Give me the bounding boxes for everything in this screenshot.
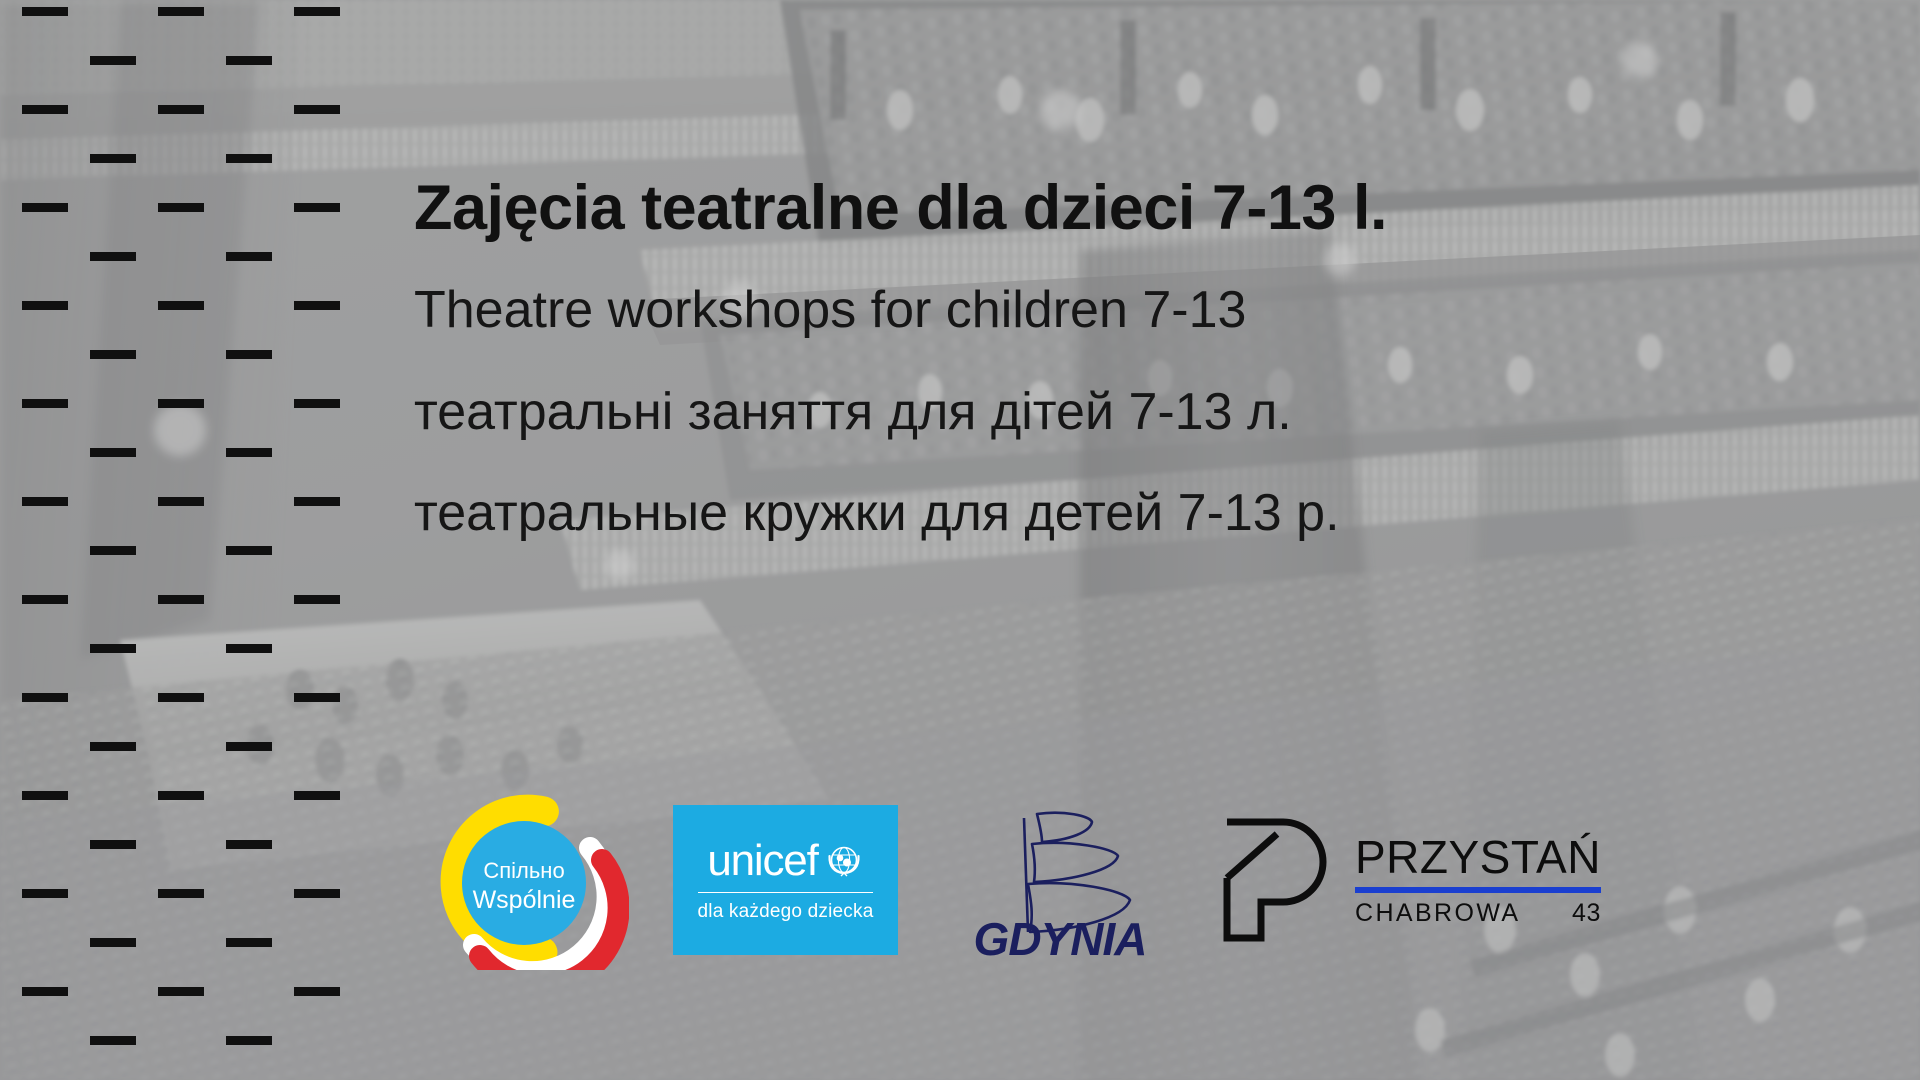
unicef-wordmark-row: unicef: [707, 839, 863, 883]
logo-przystan-chabrowa: PRZYSTAŃ CHABROWA 43: [1221, 813, 1636, 948]
dash-mark: [90, 1036, 136, 1045]
dash-mark: [294, 203, 340, 212]
dash-mark: [22, 791, 68, 800]
dash-mark: [294, 595, 340, 604]
dash-mark: [90, 448, 136, 457]
unicef-globe-icon: [824, 841, 864, 881]
dash-mark: [90, 840, 136, 849]
dash-mark: [158, 889, 204, 898]
unicef-tagline: dla każdego dziecka: [698, 902, 874, 921]
przystan-blue-bar: [1355, 887, 1601, 893]
dash-mark: [294, 889, 340, 898]
dash-mark: [226, 154, 272, 163]
dash-mark: [226, 252, 272, 261]
dash-mark: [22, 203, 68, 212]
poster-text-block: Zajęcia teatralne dla dzieci 7-13 l. The…: [414, 175, 1894, 541]
dash-mark: [22, 987, 68, 996]
przystan-street: CHABROWA: [1355, 901, 1521, 926]
dash-mark: [226, 350, 272, 359]
dash-mark: [90, 938, 136, 947]
unicef-wordmark: unicef: [707, 839, 817, 883]
dash-mark: [158, 693, 204, 702]
dash-mark: [294, 987, 340, 996]
dash-mark: [158, 105, 204, 114]
dash-mark: [226, 546, 272, 555]
przystan-name: PRZYSTAŃ: [1355, 834, 1601, 880]
dash-mark: [226, 56, 272, 65]
dash-mark: [226, 448, 272, 457]
przystan-p-monogram-icon: [1221, 816, 1333, 944]
dash-mark: [158, 595, 204, 604]
logo-unicef: unicef dla każdego dziecka: [673, 805, 898, 955]
dash-mark: [22, 889, 68, 898]
dash-mark: [22, 399, 68, 408]
przystan-textblock: PRZYSTAŃ CHABROWA 43: [1355, 834, 1601, 926]
dash-mark: [294, 7, 340, 16]
logo-spilno-wspolnie: Спільно Wspólnie: [414, 790, 629, 970]
gdynia-wordmark: GDYNIA: [974, 913, 1147, 960]
unicef-divider: [698, 892, 873, 894]
spilno-line1: Спільно: [483, 858, 564, 883]
dash-mark: [90, 154, 136, 163]
dash-mark: [22, 497, 68, 506]
dash-mark: [294, 497, 340, 506]
spilno-line2: Wspólnie: [473, 886, 576, 914]
dash-mark: [294, 301, 340, 310]
dash-mark: [158, 399, 204, 408]
subtitle-russian: театральные кружки для детей 7-13 р.: [414, 486, 1894, 541]
dash-mark: [90, 56, 136, 65]
dash-mark: [158, 203, 204, 212]
dash-mark: [158, 301, 204, 310]
dash-mark: [158, 791, 204, 800]
dash-mark: [226, 1036, 272, 1045]
dash-mark: [226, 742, 272, 751]
dash-mark: [90, 546, 136, 555]
dash-mark: [226, 938, 272, 947]
dash-mark: [90, 742, 136, 751]
dash-mark: [22, 301, 68, 310]
subtitle-english: Theatre workshops for children 7-13: [414, 283, 1894, 338]
dash-mark: [90, 644, 136, 653]
page-title: Zajęcia teatralne dla dzieci 7-13 l.: [414, 175, 1894, 241]
dash-grid-decoration: [0, 0, 330, 1080]
dash-mark: [22, 7, 68, 16]
dash-mark: [294, 105, 340, 114]
dash-mark: [158, 497, 204, 506]
dash-mark: [226, 840, 272, 849]
sponsor-logo-strip: Спільно Wspólnie unicef dla: [414, 790, 1636, 970]
przystan-number: 43: [1572, 901, 1601, 926]
dash-mark: [294, 791, 340, 800]
dash-mark: [158, 7, 204, 16]
dash-mark: [90, 252, 136, 261]
dash-mark: [22, 693, 68, 702]
dash-mark: [226, 644, 272, 653]
dash-mark: [158, 987, 204, 996]
subtitle-ukrainian: театральні заняття для дітей 7-13 л.: [414, 385, 1894, 440]
dash-mark: [22, 105, 68, 114]
dash-mark: [22, 595, 68, 604]
dash-mark: [90, 350, 136, 359]
dash-mark: [294, 399, 340, 408]
dash-mark: [294, 693, 340, 702]
poster-canvas: Zajęcia teatralne dla dzieci 7-13 l. The…: [0, 0, 1920, 1080]
logo-gdynia: GDYNIA: [942, 800, 1177, 960]
